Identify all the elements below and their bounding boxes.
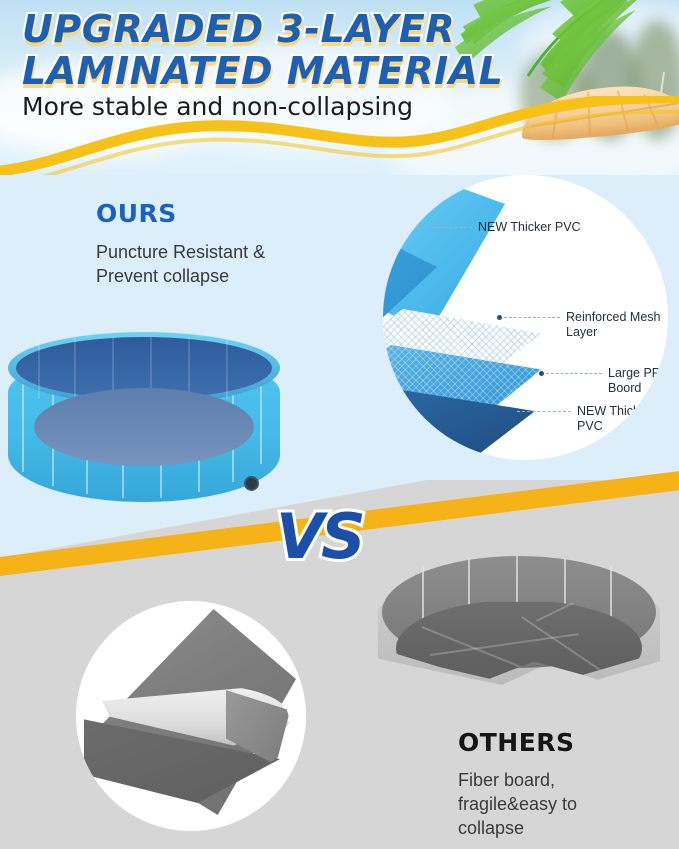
- callout-leader: [416, 227, 472, 228]
- callout-label-mesh: Reinforced Mesh Layer: [566, 310, 662, 340]
- ours-description: Puncture Resistant & Prevent collapse: [96, 240, 296, 288]
- delaminating-material-illustration: [76, 601, 306, 831]
- gray-pool-floor: [396, 600, 642, 696]
- page-subtitle: More stable and non-collapsing: [22, 92, 413, 121]
- versus-badge: VS: [276, 500, 363, 573]
- callout-leader: [504, 317, 560, 318]
- ours-heading: OURS: [96, 199, 177, 228]
- title-line-1: UPGRADED 3-LAYER: [22, 8, 492, 50]
- page-title: UPGRADED 3-LAYER LAMINATED MATERIAL: [22, 8, 492, 92]
- blue-pool-illustration: [8, 330, 280, 510]
- callout-label-pp-board: Large PP Boord: [608, 366, 668, 396]
- callout-dot: [497, 315, 502, 320]
- others-description: Fiber board, fragile&easy to collapse: [458, 768, 643, 840]
- layer-structure-diagram: NEW Thicker PVC Reinforced Mesh Layer La…: [383, 175, 668, 460]
- pool-drain-plug: [244, 476, 259, 491]
- callout-leader: [517, 411, 571, 412]
- layer-bottom-pvc: [383, 389, 535, 460]
- header-banner: UPGRADED 3-LAYER LAMINATED MATERIAL More…: [0, 0, 679, 175]
- others-heading: OTHERS: [458, 728, 575, 757]
- gray-pool-illustration: [378, 552, 660, 724]
- callout-dot: [409, 225, 414, 230]
- callout-dot: [539, 371, 544, 376]
- callout-label-top-pvc: NEW Thicker PVC: [478, 220, 628, 235]
- callout-leader: [546, 373, 602, 374]
- pool-floor: [34, 388, 254, 466]
- callout-label-bottom-pvc: NEW Thicker PVC: [577, 404, 663, 434]
- title-line-2: LAMINATED MATERIAL: [22, 50, 492, 92]
- infographic-page: UPGRADED 3-LAYER LAMINATED MATERIAL More…: [0, 0, 679, 849]
